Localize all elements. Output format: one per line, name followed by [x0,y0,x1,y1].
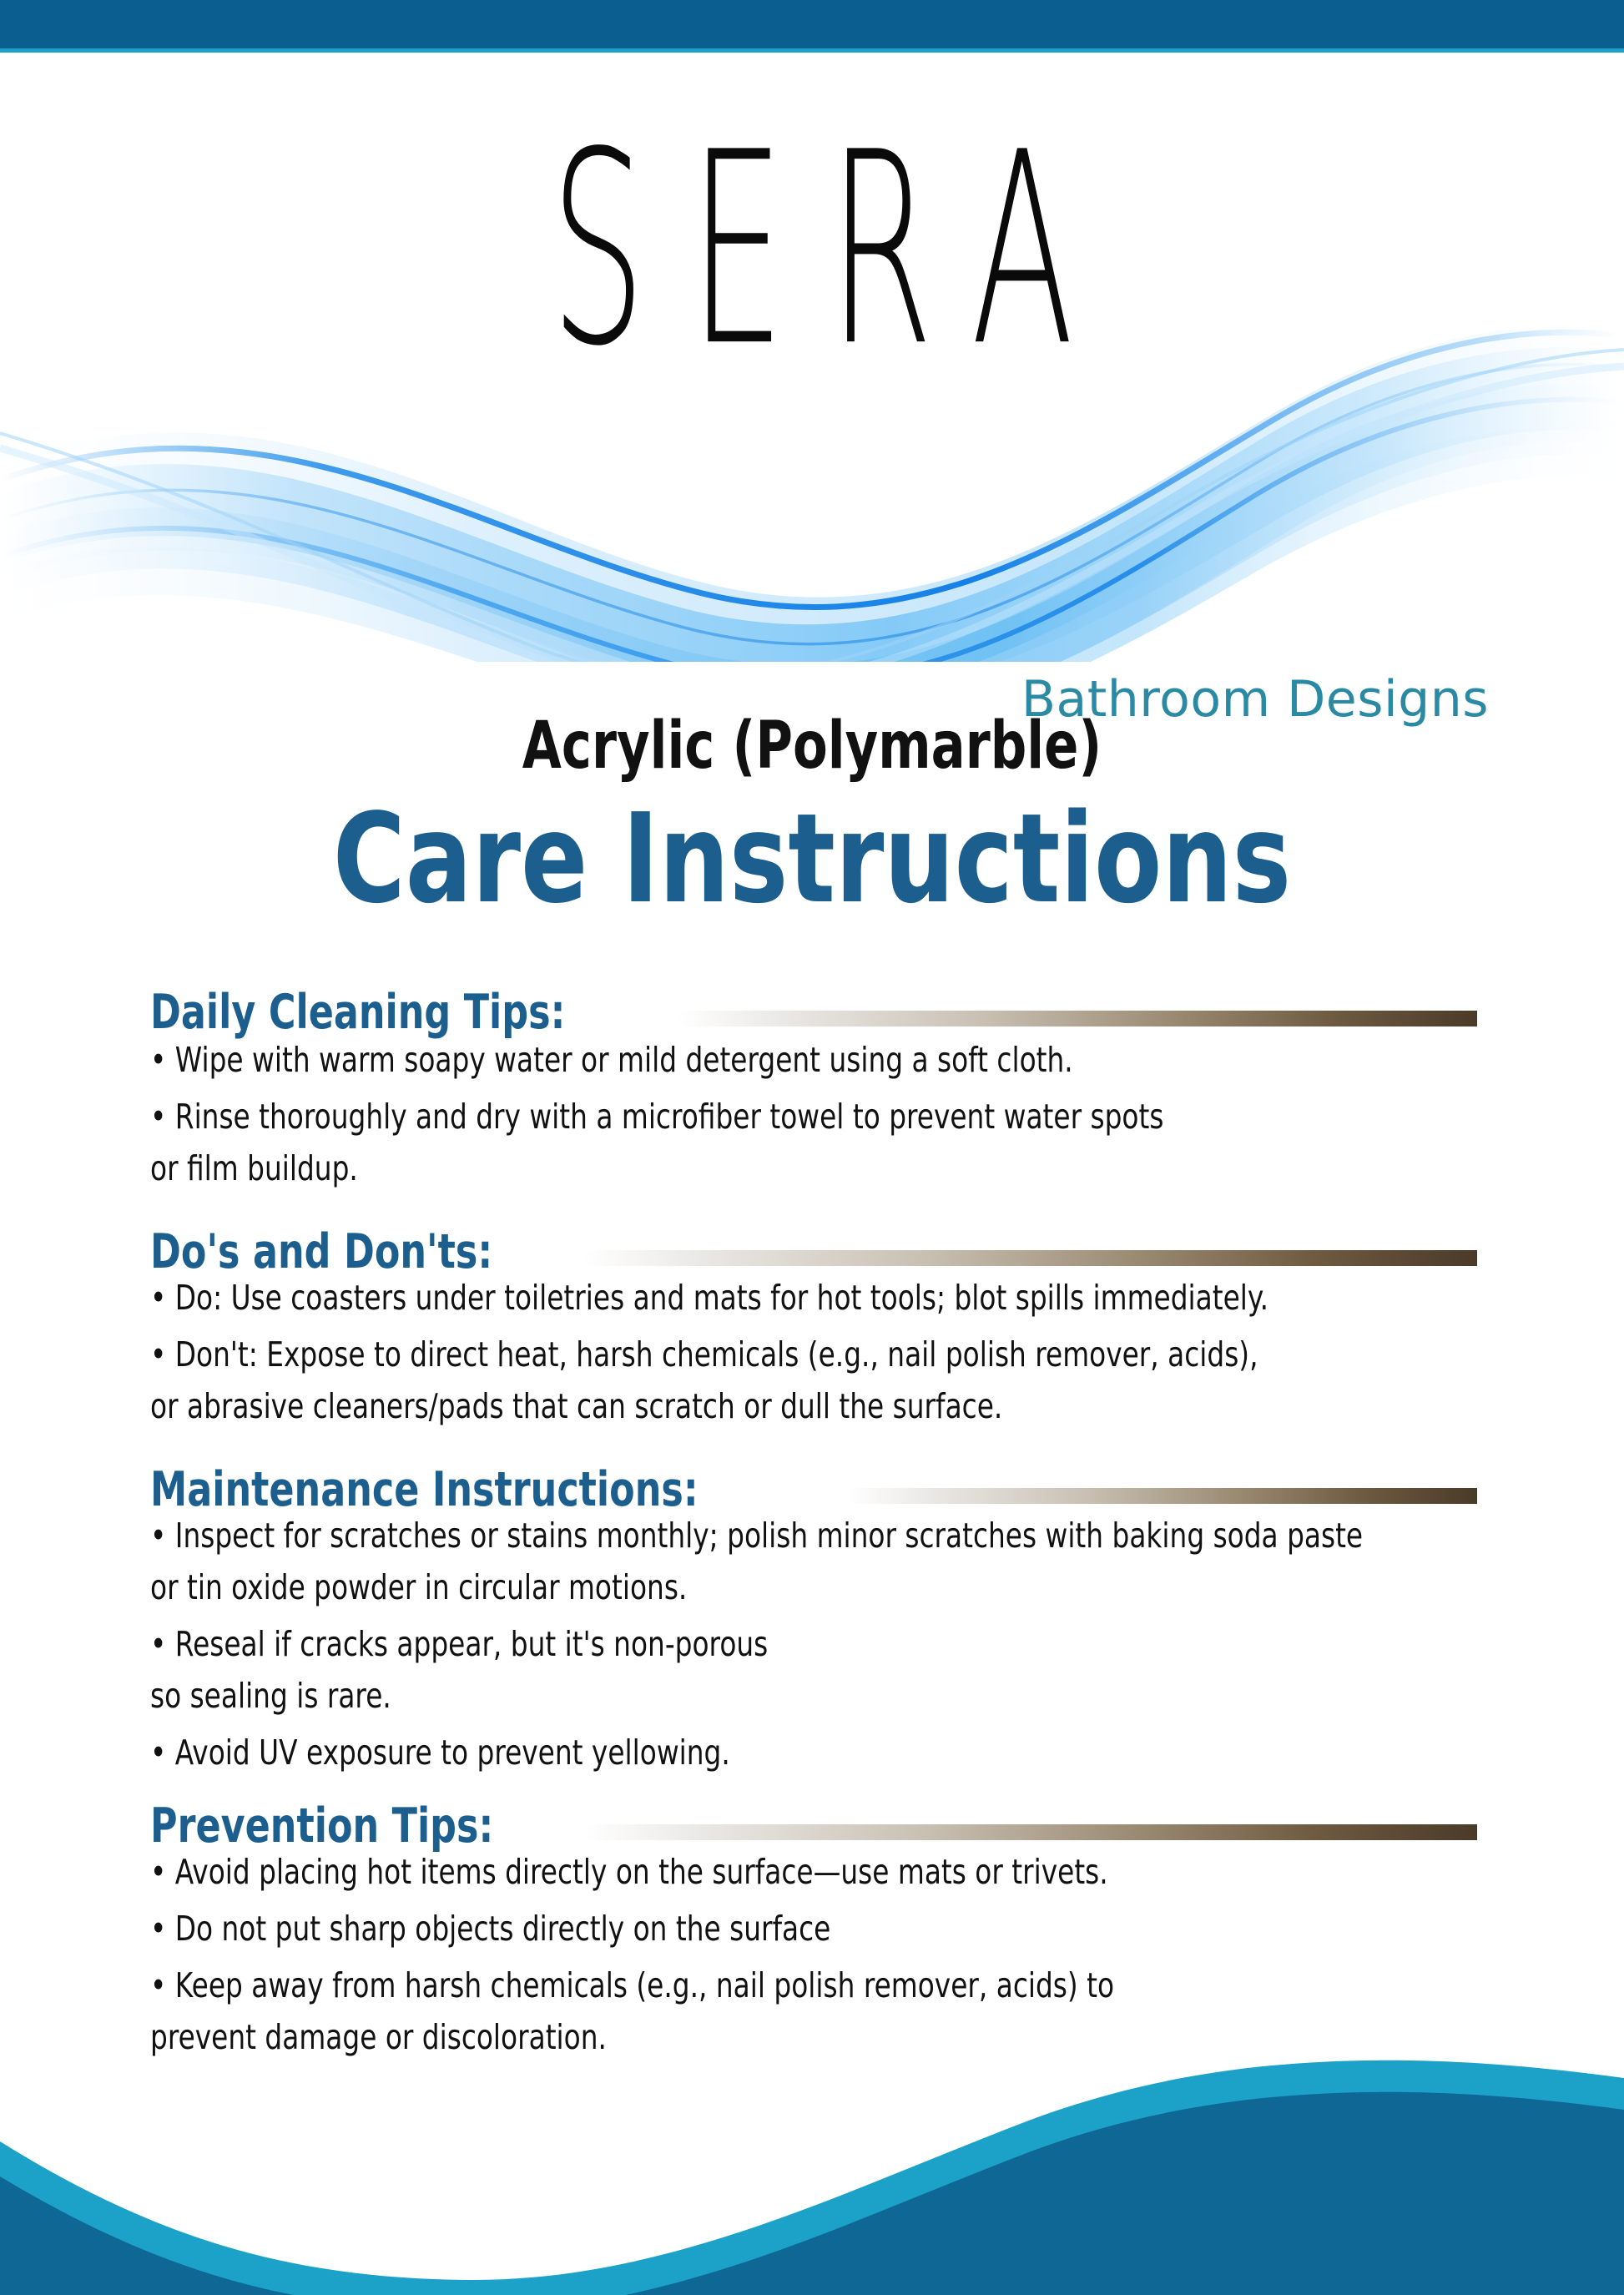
section-heading-dos-and-donts: Do's and Don'ts: [150,1228,492,1276]
section-divider-rule [585,1824,1477,1840]
bullet-line: • Avoid UV exposure to prevent yellowing… [150,1736,1212,1770]
section-divider-rule [678,1011,1477,1026]
footer-wave-graphic [0,2020,1624,2295]
section-header: Daily Cleaning Tips: [150,985,1477,1037]
product-title: Acrylic (Polymarble) [179,714,1445,779]
bullet-line: • Inspect for scratches or stains monthl… [150,1519,1212,1553]
blue-wave-ribbon-graphic [0,270,1624,662]
bullet-list: • Wipe with warm soapy water or mild det… [150,1043,1477,1186]
section-header: Maintenance Instructions: [150,1462,1477,1514]
section-header: Do's and Don'ts: [150,1224,1477,1276]
section-divider-rule [584,1250,1477,1266]
bullet-line-continuation: so sealing is rare. [150,1679,1212,1713]
bullet-list: • Do: Use coasters under toiletries and … [150,1281,1477,1424]
bullet-line-continuation: or film buildup. [150,1152,1212,1186]
bullet-line: • Don't: Expose to direct heat, harsh ch… [150,1338,1212,1372]
bullet-line: • Do not put sharp objects directly on t… [150,1912,1212,1946]
top-color-bar [0,0,1624,48]
care-instructions-poster: SERA [0,0,1624,2295]
section-maintenance-instructions: Maintenance Instructions: • Inspect for … [150,1462,1477,1770]
section-header: Prevention Tips: [150,1798,1477,1850]
section-heading-daily-cleaning-tips: Daily Cleaning Tips: [150,989,565,1037]
section-daily-cleaning-tips: Daily Cleaning Tips: • Wipe with warm so… [150,985,1477,1186]
page-title: Care Instructions [163,797,1462,921]
bullet-line: • Wipe with warm soapy water or mild det… [150,1043,1212,1077]
bullet-list: • Inspect for scratches or stains monthl… [150,1519,1477,1770]
bullet-line: • Rinse thoroughly and dry with a microf… [150,1100,1212,1134]
bullet-line: • Do: Use coasters under toiletries and … [150,1281,1212,1315]
bullet-line-continuation: or abrasive cleaners/pads that can scrat… [150,1390,1212,1424]
section-prevention-tips: Prevention Tips: • Avoid placing hot ite… [150,1798,1477,2055]
section-heading-prevention-tips: Prevention Tips: [150,1803,493,1850]
instructions-content: Daily Cleaning Tips: • Wipe with warm so… [150,985,1477,2077]
section-heading-maintenance-instructions: Maintenance Instructions: [150,1466,699,1514]
brand-header: SERA [0,53,1624,712]
bullet-line: • Avoid placing hot items directly on th… [150,1855,1212,1889]
bullet-line-continuation: or tin oxide powder in circular motions. [150,1571,1212,1605]
bullet-line: • Reseal if cracks appear, but it's non-… [150,1627,1212,1662]
section-divider-rule [848,1488,1477,1504]
bullet-line: • Keep away from harsh chemicals (e.g., … [150,1969,1212,2003]
section-dos-and-donts: Do's and Don'ts: • Do: Use coasters unde… [150,1224,1477,1424]
